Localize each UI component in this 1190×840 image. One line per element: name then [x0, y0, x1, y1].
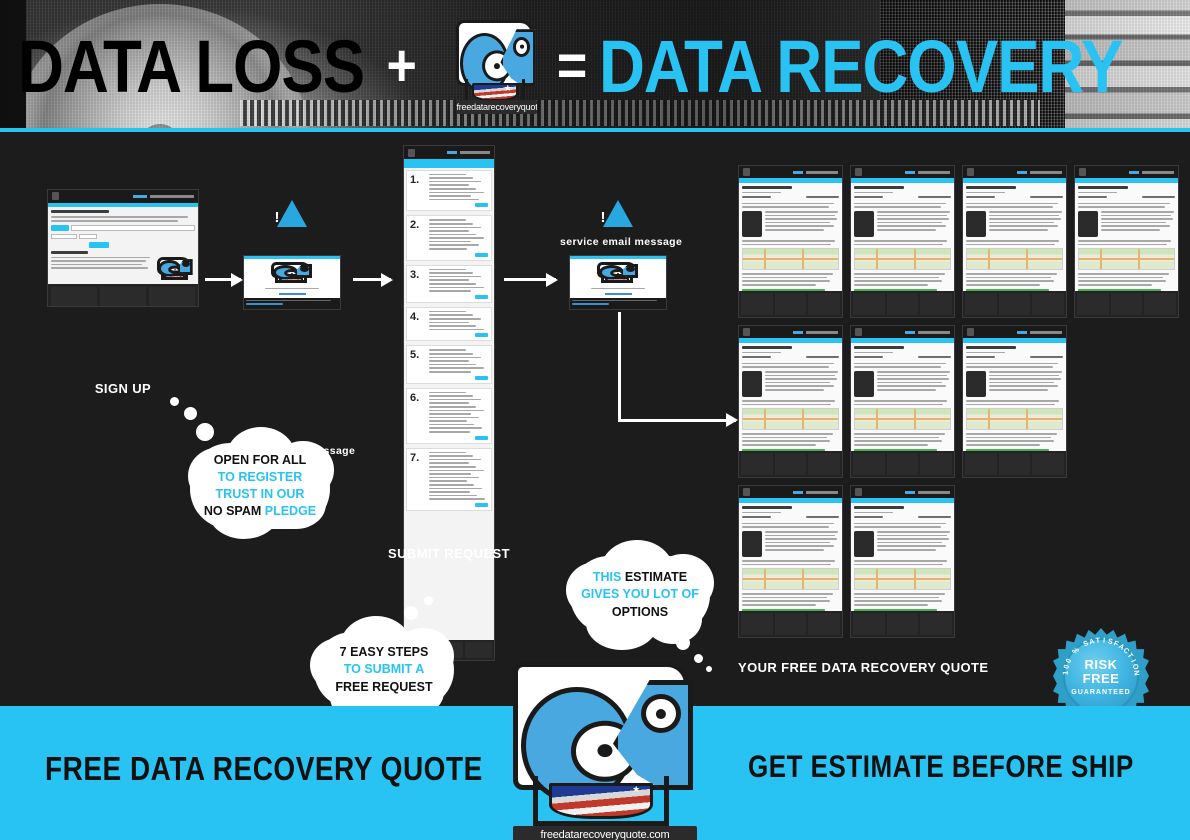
- cloud-line: TRUST IN OUR: [204, 486, 316, 503]
- form-option-row[interactable]: [429, 314, 473, 316]
- form-step-number: 2.: [410, 219, 426, 256]
- form-option-row[interactable]: [429, 349, 466, 351]
- footer-right-text: GET ESTIMATE BEFORE SHIP: [748, 748, 1134, 785]
- header-logo: freedatarecoveryquote.com: [453, 20, 541, 112]
- flow-diagram-area: SIGN UP ! service email m: [0, 132, 1190, 706]
- form-option-row[interactable]: [429, 188, 476, 190]
- form-option-row[interactable]: [429, 495, 477, 497]
- form-next-button[interactable]: [475, 503, 488, 507]
- arrow-email2-to-quotes: [618, 312, 736, 422]
- quote-map-image[interactable]: [1078, 248, 1175, 270]
- form-step[interactable]: 4.: [406, 307, 492, 342]
- form-option-row[interactable]: [429, 459, 481, 461]
- quote-results-grid: [738, 165, 1188, 645]
- form-option-row[interactable]: [429, 329, 484, 331]
- plus-symbol: +: [387, 36, 417, 96]
- cloud-accent-text: THIS: [593, 570, 625, 584]
- form-option-row[interactable]: [429, 357, 481, 359]
- form-next-button[interactable]: [475, 203, 488, 207]
- form-step[interactable]: 2.: [406, 215, 492, 260]
- form-option-row[interactable]: [429, 276, 481, 278]
- logo-url-label: freedatarecoveryquote.com: [456, 100, 537, 114]
- headline-data-recovery: DATA RECOVERY: [599, 23, 1122, 109]
- badge-arc-char: I: [1103, 636, 1106, 645]
- form-step-list: 1.2.3.4.5.6.7.: [406, 170, 492, 511]
- form-option-row[interactable]: [429, 420, 467, 422]
- form-option-row[interactable]: [429, 402, 469, 404]
- form-option-row[interactable]: [429, 410, 484, 412]
- form-step[interactable]: 3.: [406, 265, 492, 303]
- form-next-button[interactable]: [475, 333, 488, 337]
- cloud-accent-text: TRUST IN OUR: [216, 487, 305, 501]
- form-option-row[interactable]: [429, 466, 476, 468]
- form-step[interactable]: 7.: [406, 448, 492, 511]
- quote-device-image: [742, 371, 762, 397]
- form-option-row[interactable]: [429, 488, 482, 490]
- header-title-row: DATA LOSS + freedatarecoveryquote.com = …: [0, 0, 1190, 132]
- form-option-row[interactable]: [429, 279, 469, 281]
- signup-screenshot[interactable]: [47, 189, 199, 307]
- service-email-screenshot-1[interactable]: [243, 255, 341, 310]
- quote-map-image[interactable]: [966, 408, 1063, 430]
- form-option-row[interactable]: [429, 427, 482, 429]
- form-option-row[interactable]: [429, 195, 471, 197]
- footer-left-text: FREE DATA RECOVERY QUOTE: [45, 750, 483, 788]
- form-option-row[interactable]: [429, 237, 484, 239]
- form-option-row[interactable]: [429, 177, 473, 179]
- form-option-row[interactable]: [429, 413, 471, 415]
- quote-device-image: [1078, 211, 1098, 237]
- form-step[interactable]: 6.: [406, 388, 492, 444]
- arrow-signup-to-email: [205, 278, 241, 281]
- cloud-signup-lines: OPEN FOR ALLTO REGISTERTRUST IN OURNO SP…: [204, 452, 316, 521]
- cloud-estimate-lines: THIS ESTIMATEGIVES YOU LOT OFOPTIONS: [581, 569, 699, 621]
- quote-device-image: [742, 211, 762, 237]
- cloud-steps: 7 EASY STEPSTO SUBMIT AFREE REQUEST: [296, 594, 472, 724]
- form-option-row[interactable]: [429, 360, 469, 362]
- form-option-row[interactable]: [429, 364, 476, 366]
- form-option-row[interactable]: [429, 424, 474, 426]
- quote-screenshot[interactable]: [850, 485, 955, 638]
- cloud-text: OPEN FOR ALL: [214, 453, 307, 467]
- quote-device-image: [966, 211, 986, 237]
- quote-screenshot[interactable]: [1074, 165, 1179, 318]
- cloud-text: NO SPAM: [204, 504, 265, 518]
- form-step-number: 4.: [410, 311, 426, 338]
- form-option-row[interactable]: [429, 174, 466, 176]
- form-option-row[interactable]: [429, 181, 481, 183]
- form-option-row[interactable]: [429, 470, 484, 472]
- quote-map-image[interactable]: [966, 248, 1063, 270]
- form-option-row[interactable]: [429, 219, 466, 221]
- cloud-text: ESTIMATE: [625, 570, 687, 584]
- form-option-row[interactable]: [429, 318, 481, 320]
- form-option-row[interactable]: [429, 241, 471, 243]
- form-option-row[interactable]: [429, 248, 467, 250]
- quote-device-image: [742, 531, 762, 557]
- form-option-row[interactable]: [429, 199, 479, 201]
- form-step-number: 7.: [410, 452, 426, 507]
- form-option-row[interactable]: [429, 223, 473, 225]
- cloud-line: 7 EASY STEPS: [335, 644, 432, 661]
- form-option-row[interactable]: [429, 455, 473, 457]
- hard-drive-mascot-icon: freedatarecoveryquote.com: [453, 20, 541, 112]
- quote-device-image: [966, 371, 986, 397]
- badge-line-3: GUARANTEED: [1053, 689, 1149, 696]
- form-option-row[interactable]: [429, 272, 473, 274]
- form-next-button[interactable]: [475, 376, 488, 380]
- quote-screenshot[interactable]: [850, 325, 955, 478]
- cloud-text: FREE REQUEST: [335, 680, 432, 694]
- headline-data-loss: DATA LOSS: [18, 23, 364, 109]
- cloud-line: GIVES YOU LOT OF: [581, 586, 699, 603]
- header-banner: DATA LOSS + freedatarecoveryquote.com = …: [0, 0, 1190, 132]
- quote-map-image[interactable]: [742, 568, 839, 590]
- form-option-row[interactable]: [429, 353, 473, 355]
- quote-row: [738, 325, 1188, 478]
- cloud-signup: OPEN FOR ALLTO REGISTERTRUST IN OURNO SP…: [160, 395, 350, 545]
- arrow-form-to-email2: [504, 278, 556, 281]
- cloud-line: OPTIONS: [581, 604, 699, 621]
- form-option-row[interactable]: [429, 367, 484, 369]
- form-option-row[interactable]: [429, 325, 476, 327]
- cloud-text: 7 EASY STEPS: [340, 645, 429, 659]
- cloud-line: NO SPAM PLEDGE: [204, 503, 316, 520]
- form-option-row[interactable]: [429, 484, 474, 486]
- cloud-line: FREE REQUEST: [335, 679, 432, 696]
- quote-device-image: [854, 211, 874, 237]
- form-option-row[interactable]: [429, 184, 469, 186]
- quotes-caption: YOUR FREE DATA RECOVERY QUOTE: [738, 660, 954, 675]
- signup-caption: SIGN UP: [47, 381, 199, 396]
- cloud-line: TO SUBMIT A: [335, 661, 432, 678]
- service-email-screenshot-2[interactable]: [569, 255, 667, 310]
- badge-arc-char: T: [1095, 635, 1100, 644]
- form-option-row[interactable]: [429, 473, 471, 475]
- form-option-row[interactable]: [429, 269, 466, 271]
- footer-mascot: freedatarecoveryquote.com: [505, 662, 705, 840]
- form-option-row[interactable]: [429, 452, 466, 454]
- quote-screenshot[interactable]: [962, 165, 1067, 318]
- form-step-number: 3.: [410, 269, 426, 299]
- submit-request-form-screenshot[interactable]: 1.2.3.4.5.6.7.: [403, 145, 495, 661]
- quote-screenshot[interactable]: [738, 165, 843, 318]
- quote-map-image[interactable]: [742, 248, 839, 270]
- form-next-button[interactable]: [475, 253, 488, 257]
- form-step[interactable]: 1.: [406, 170, 492, 212]
- form-option-row[interactable]: [429, 230, 469, 232]
- form-option-row[interactable]: [429, 192, 484, 194]
- form-option-row[interactable]: [429, 491, 470, 493]
- quote-screenshot[interactable]: [738, 485, 843, 638]
- form-option-row[interactable]: [429, 322, 469, 324]
- submit-request-caption: SUBMIT REQUEST: [385, 546, 513, 561]
- cloud-accent-text: TO REGISTER: [218, 470, 303, 484]
- form-option-row[interactable]: [429, 311, 466, 313]
- form-next-button[interactable]: [475, 436, 488, 440]
- form-option-row[interactable]: [429, 234, 476, 236]
- quote-screenshot[interactable]: [850, 165, 955, 318]
- form-option-row[interactable]: [429, 480, 467, 482]
- cloud-text: OPTIONS: [612, 605, 668, 619]
- quote-device-image: [854, 531, 874, 557]
- form-option-row[interactable]: [429, 498, 485, 500]
- cloud-accent-text: PLEDGE: [265, 504, 316, 518]
- badge-arc-char: %: [1070, 645, 1081, 656]
- quote-device-image: [854, 371, 874, 397]
- quote-row: [738, 165, 1188, 318]
- form-option-row[interactable]: [429, 399, 481, 401]
- cloud-estimate: THIS ESTIMATEGIVES YOU LOT OFOPTIONS: [548, 524, 726, 672]
- cloud-steps-lines: 7 EASY STEPSTO SUBMIT AFREE REQUEST: [335, 644, 432, 696]
- cloud-line: THIS ESTIMATE: [581, 569, 699, 586]
- form-option-row[interactable]: [429, 462, 469, 464]
- infographic-canvas: DATA LOSS + freedatarecoveryquote.com = …: [0, 0, 1190, 840]
- footer-mascot-url: freedatarecoveryquote.com: [513, 826, 697, 840]
- form-option-row[interactable]: [429, 477, 479, 479]
- form-option-row[interactable]: [429, 395, 473, 397]
- form-step[interactable]: 5.: [406, 345, 492, 383]
- service-email-caption-2: service email message: [560, 236, 678, 248]
- form-option-row[interactable]: [429, 227, 481, 229]
- cloud-accent-text: GIVES YOU LOT OF: [581, 587, 699, 601]
- form-step-number: 5.: [410, 349, 426, 379]
- form-option-row[interactable]: [429, 290, 471, 292]
- form-option-row[interactable]: [429, 406, 476, 408]
- equals-symbol: =: [557, 36, 587, 96]
- arrow-email-to-form: [353, 278, 391, 281]
- form-option-row[interactable]: [429, 392, 466, 394]
- form-option-row[interactable]: [429, 371, 471, 373]
- form-step-number: 6.: [410, 392, 426, 440]
- form-option-row[interactable]: [429, 283, 476, 285]
- form-next-button[interactable]: [475, 295, 488, 299]
- quote-map-image[interactable]: [854, 408, 951, 430]
- quote-map-image[interactable]: [854, 568, 951, 590]
- badge-line-2: FREE: [1053, 671, 1149, 686]
- cloud-line: OPEN FOR ALL: [204, 452, 316, 469]
- form-option-row[interactable]: [429, 417, 479, 419]
- cloud-accent-text: TO SUBMIT A: [344, 662, 425, 676]
- badge-arc-char: A: [1088, 636, 1095, 646]
- cloud-line: TO REGISTER: [204, 469, 316, 486]
- quote-map-image[interactable]: [742, 408, 839, 430]
- quote-screenshot[interactable]: [962, 325, 1067, 478]
- form-option-row[interactable]: [429, 287, 484, 289]
- form-step-number: 1.: [410, 174, 426, 208]
- badge-line-1: RISK: [1053, 657, 1149, 672]
- quote-screenshot[interactable]: [738, 325, 843, 478]
- form-option-row[interactable]: [429, 244, 479, 246]
- quote-row: [738, 485, 1188, 638]
- form-option-row[interactable]: [429, 431, 470, 433]
- quote-map-image[interactable]: [854, 248, 951, 270]
